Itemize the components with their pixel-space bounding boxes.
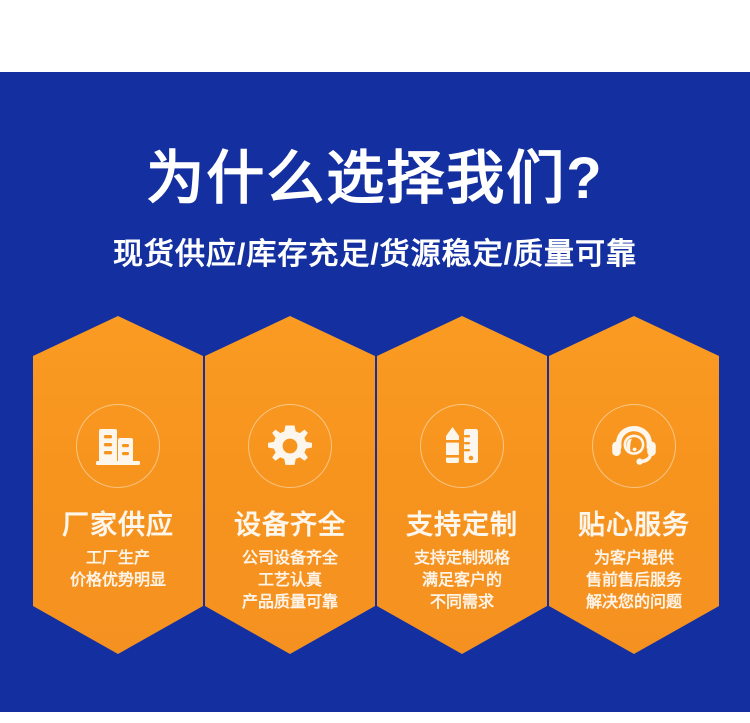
feature-card-body: 工厂生产 价格优势明显 xyxy=(33,548,203,592)
feature-card-line: 不同需求 xyxy=(377,592,547,614)
feature-card-line: 解决您的问题 xyxy=(549,592,719,614)
pencil-ruler-icon xyxy=(420,404,504,488)
feature-card-1[interactable]: 厂家供应 工厂生产 价格优势明显 xyxy=(33,316,203,654)
gear-icon xyxy=(248,404,332,488)
feature-card-line: 售前售后服务 xyxy=(549,570,719,592)
building-icon xyxy=(76,404,160,488)
feature-card-body: 支持定制规格 满足客户的 不同需求 xyxy=(377,548,547,614)
headset-support-icon xyxy=(592,404,676,488)
feature-card-3[interactable]: 支持定制 支持定制规格 满足客户的 不同需求 xyxy=(377,316,547,654)
feature-card-body: 公司设备齐全 工艺认真 产品质量可靠 xyxy=(205,548,375,614)
page-subtitle: 现货供应/库存充足/货源稳定/质量可靠 xyxy=(0,240,750,270)
feature-card-line: 为客户提供 xyxy=(549,548,719,570)
bottom-white-margin xyxy=(0,712,750,723)
feature-card-body: 为客户提供 售前售后服务 解决您的问题 xyxy=(549,548,719,614)
feature-card-2[interactable]: 设备齐全 公司设备齐全 工艺认真 产品质量可靠 xyxy=(205,316,375,654)
feature-card-line: 支持定制规格 xyxy=(377,548,547,570)
feature-card-line: 公司设备齐全 xyxy=(205,548,375,570)
feature-card-title: 支持定制 xyxy=(377,512,547,539)
feature-card-list: 厂家供应 工厂生产 价格优势明显 设备齐全 公司设备齐全 工艺认真 xyxy=(33,316,719,656)
feature-card-line: 价格优势明显 xyxy=(33,570,203,592)
page-title: 为什么选择我们? xyxy=(0,150,750,208)
top-white-margin xyxy=(0,0,750,72)
feature-card-line: 产品质量可靠 xyxy=(205,592,375,614)
promo-banner-page: 为什么选择我们? 现货供应/库存充足/货源稳定/质量可靠 xyxy=(0,0,750,723)
feature-card-line: 满足客户的 xyxy=(377,570,547,592)
feature-card-line: 工艺认真 xyxy=(205,570,375,592)
feature-card-4[interactable]: 贴心服务 为客户提供 售前售后服务 解决您的问题 xyxy=(549,316,719,654)
feature-card-title: 贴心服务 xyxy=(549,512,719,539)
feature-card-line: 工厂生产 xyxy=(33,548,203,570)
feature-card-title: 设备齐全 xyxy=(205,512,375,539)
feature-card-title: 厂家供应 xyxy=(33,512,203,539)
